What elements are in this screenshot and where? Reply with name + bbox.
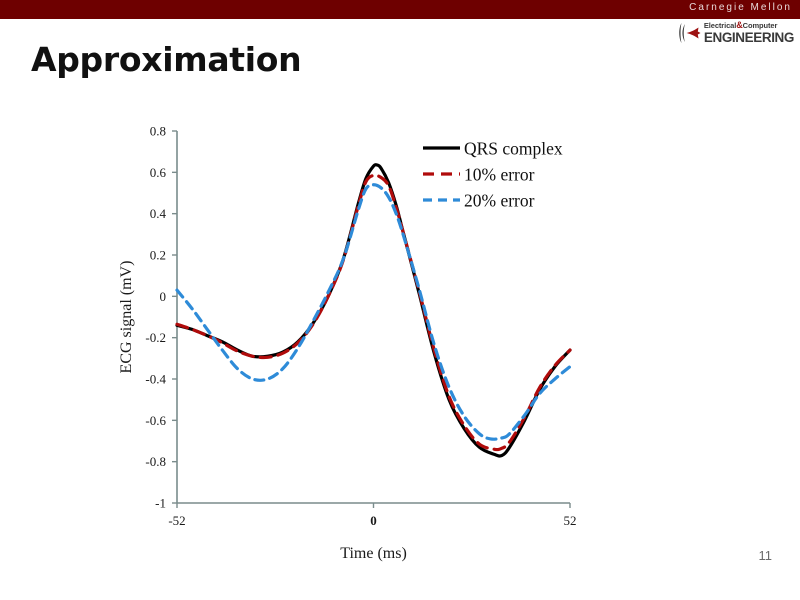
cmu-ece-arrow-logo-icon	[679, 21, 701, 45]
y-tick-label: 0.6	[150, 165, 167, 180]
chart-svg: ECG signal (mV) 0.80.60.40.20-0.2-0.4-0.…	[100, 110, 660, 575]
y-tick-label: 0	[160, 289, 167, 304]
x-tick-label: 0	[370, 513, 377, 528]
y-tick-label: 0.2	[150, 248, 166, 263]
y-axis-title: ECG signal (mV)	[118, 261, 135, 374]
ecg-approximation-chart: ECG signal (mV) 0.80.60.40.20-0.2-0.4-0.…	[100, 110, 660, 575]
legend-label: 10% error	[464, 165, 535, 185]
x-tick-labels-group: -52052	[168, 503, 576, 528]
series-line	[177, 175, 570, 449]
slide-number: 11	[759, 548, 773, 563]
page-title: Approximation	[31, 40, 301, 79]
y-tick-labels-group: 0.80.60.40.20-0.2-0.4-0.6-0.8-1	[145, 124, 177, 511]
x-axis-title: Time (ms)	[340, 545, 407, 562]
legend-label: 20% error	[464, 191, 535, 211]
y-tick-label: -0.8	[145, 454, 166, 469]
x-tick-label: 52	[564, 513, 577, 528]
y-tick-label: -0.4	[145, 372, 166, 387]
carnegie-mellon-wordmark: Carnegie Mellon	[689, 2, 792, 13]
chart-legend: QRS complex10% error20% error	[423, 139, 563, 211]
logo-line1: Electrical&Computer	[704, 21, 794, 30]
ece-logo: Electrical&Computer ENGINEERING	[672, 20, 794, 46]
y-tick-label: -0.6	[145, 413, 166, 428]
logo-line1-suffix: Computer	[743, 21, 778, 30]
logo-line1-prefix: Electrical	[704, 21, 736, 30]
y-tick-label: -0.2	[145, 330, 166, 345]
x-axis-title-group: Time (ms)	[340, 545, 407, 562]
header-band	[0, 0, 800, 19]
y-tick-label: -1	[155, 496, 166, 511]
x-tick-label: -52	[168, 513, 185, 528]
y-axis-title-group: ECG signal (mV)	[118, 261, 135, 374]
legend-label: QRS complex	[464, 139, 563, 159]
series-line	[177, 185, 570, 439]
y-tick-label: 0.8	[150, 124, 166, 139]
y-tick-label: 0.4	[150, 206, 167, 221]
logo-line2: ENGINEERING	[704, 31, 794, 45]
